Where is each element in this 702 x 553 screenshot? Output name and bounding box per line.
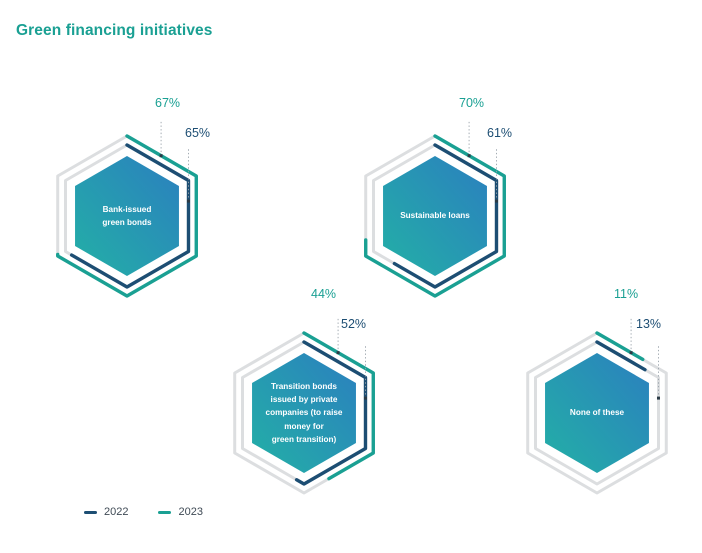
- value-2022-leader-dot: [495, 200, 498, 203]
- value-label-2023-1: 70%: [459, 96, 484, 110]
- legend-label-2023: 2023: [178, 506, 202, 518]
- legend-label-2022: 2022: [104, 506, 128, 518]
- value-2023-leader-dot: [337, 351, 340, 354]
- hexagon-core-fill: [383, 156, 487, 276]
- value-2022-leader-dot: [187, 200, 190, 203]
- hexagon-core-fill: [75, 156, 179, 276]
- value-label-2022-3: 13%: [636, 317, 661, 331]
- hexagon-item-1[interactable]: Sustainable loans: [335, 116, 535, 316]
- value-label-2023-0: 67%: [155, 96, 180, 110]
- legend: 2022 2023: [84, 506, 203, 518]
- value-2023-leader-dot: [630, 351, 633, 354]
- hexagon-item-3[interactable]: None of these: [497, 313, 697, 513]
- value-label-2023-2: 44%: [311, 287, 336, 301]
- hexagon-item-0[interactable]: Bank-issuedgreen bonds: [27, 116, 227, 316]
- hexagon-rings-1: [335, 116, 535, 316]
- chart-canvas: Green financing initiatives Bank-issuedg…: [0, 0, 702, 553]
- value-label-2023-3: 11%: [614, 287, 638, 301]
- page-title: Green financing initiatives: [16, 22, 213, 40]
- value-2023-leader-dot: [468, 154, 471, 157]
- hexagon-core-fill: [252, 353, 356, 473]
- legend-item-2023[interactable]: 2023: [158, 506, 202, 518]
- hexagon-core-fill: [545, 353, 649, 473]
- hexagon-item-2[interactable]: Transition bondsissued by privatecompani…: [204, 313, 404, 513]
- hexagon-rings-0: [27, 116, 227, 316]
- legend-item-2022[interactable]: 2022: [84, 506, 128, 518]
- hexagon-rings-2: [204, 313, 404, 513]
- value-label-2022-1: 61%: [487, 126, 512, 140]
- value-2022-leader-dot: [657, 397, 660, 400]
- legend-dash-icon-2022: [84, 511, 97, 514]
- hexagon-rings-3: [497, 313, 697, 513]
- value-2023-leader-dot: [160, 154, 163, 157]
- legend-dash-icon-2023: [158, 511, 171, 514]
- value-label-2022-2: 52%: [341, 317, 366, 331]
- value-label-2022-0: 65%: [185, 126, 210, 140]
- value-2022-leader-dot: [364, 397, 367, 400]
